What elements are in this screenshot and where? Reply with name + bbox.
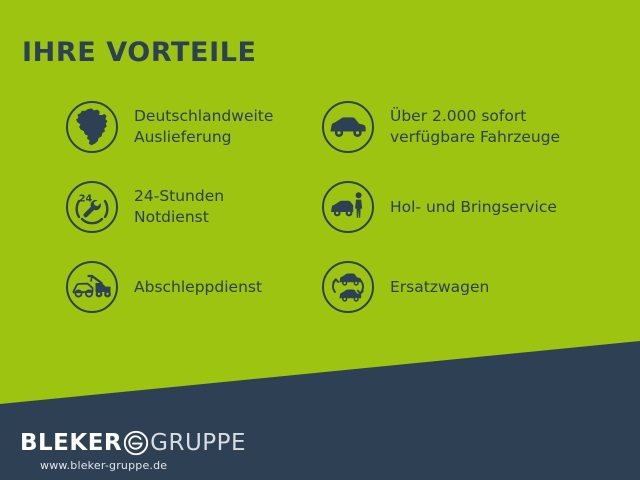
benefit-item-deutschlandweite-auslieferung[interactable]: Deutschlandweite Auslieferung: [66, 101, 273, 153]
clock-wrench-24h-icon: 24: [66, 181, 118, 233]
benefit-item-24-stunden-notdienst[interactable]: 24 24-Stunden Notdienst: [66, 181, 224, 233]
benefit-item-verfuegbare-fahrzeuge[interactable]: Über 2.000 sofort verfügbare Fahrzeuge: [322, 101, 560, 153]
tow-truck-icon: [66, 261, 118, 313]
page-title: IHRE VORTEILE: [22, 38, 257, 68]
spiral-circle-icon: [123, 430, 149, 456]
germany-map-icon: [66, 101, 118, 153]
two-cars-swap-icon: [322, 261, 374, 313]
benefit-item-label: Hol- und Bringservice: [390, 197, 557, 218]
footer-logo-block[interactable]: BLEKER GRUPPE www.bleker-gruppe.de: [20, 430, 246, 472]
slide-canvas: IHRE VORTEILE Deutschlandweite Ausliefer…: [0, 0, 640, 480]
benefit-item-ersatzwagen[interactable]: Ersatzwagen: [322, 261, 489, 313]
diagonal-dark-wedge: [0, 0, 640, 480]
benefit-item-label: Ersatzwagen: [390, 277, 489, 298]
benefit-item-label: 24-Stunden Notdienst: [134, 186, 224, 228]
car-icon: [322, 101, 374, 153]
benefit-item-label: Über 2.000 sofort verfügbare Fahrzeuge: [390, 106, 560, 148]
logo-text-bleker: BLEKER: [20, 431, 122, 455]
logo-wordmark: BLEKER GRUPPE: [20, 430, 246, 456]
car-with-person-icon: [322, 181, 374, 233]
benefit-item-label: Abschleppdienst: [134, 277, 262, 298]
benefit-item-hol-und-bringservice[interactable]: Hol- und Bringservice: [322, 181, 557, 233]
logo-text-gruppe: GRUPPE: [150, 431, 246, 455]
svg-text:24: 24: [79, 194, 93, 205]
logo-url-text: www.bleker-gruppe.de: [40, 459, 246, 472]
benefit-item-abschleppdienst[interactable]: Abschleppdienst: [66, 261, 262, 313]
benefit-item-label: Deutschlandweite Auslieferung: [134, 106, 273, 148]
